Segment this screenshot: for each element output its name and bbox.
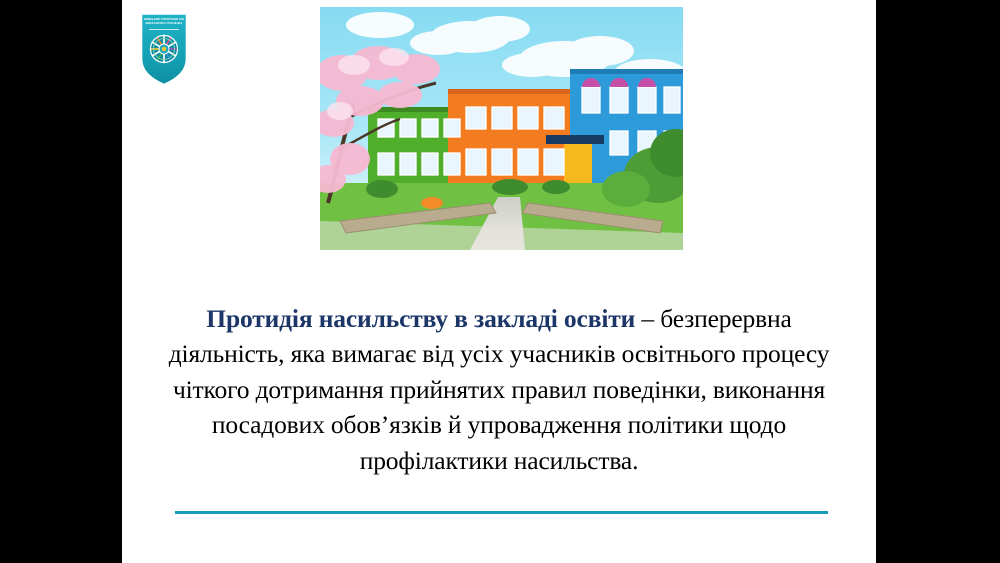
rosette-starburst-icon — [149, 34, 179, 64]
presentation-slide: КИЇВСЬКИЙ СТОЛИЧНИЙ УНІВЕРСИТЕТ ІМЕНІ БО… — [0, 0, 1000, 563]
school-photo-illustration — [320, 7, 683, 250]
logo-wordmark-line2: ІМЕНІ БОРИСА ГРІНЧЕНКА — [144, 22, 184, 25]
letterbox-bar-right — [876, 0, 1000, 563]
slide-body-text: Протидія насильству в закладі освіти – б… — [162, 301, 836, 479]
slide-canvas: КИЇВСЬКИЙ СТОЛИЧНИЙ УНІВЕРСИТЕТ ІМЕНІ БО… — [122, 0, 876, 563]
slide-lead-phrase: Протидія насильству в закладі освіти — [206, 304, 635, 333]
bottom-divider-line — [175, 511, 828, 514]
university-logo: КИЇВСЬКИЙ СТОЛИЧНИЙ УНІВЕРСИТЕТ ІМЕНІ БО… — [140, 12, 188, 86]
logo-divider — [149, 29, 179, 30]
school-building-photo — [320, 7, 683, 250]
letterbox-bar-left — [0, 0, 122, 563]
